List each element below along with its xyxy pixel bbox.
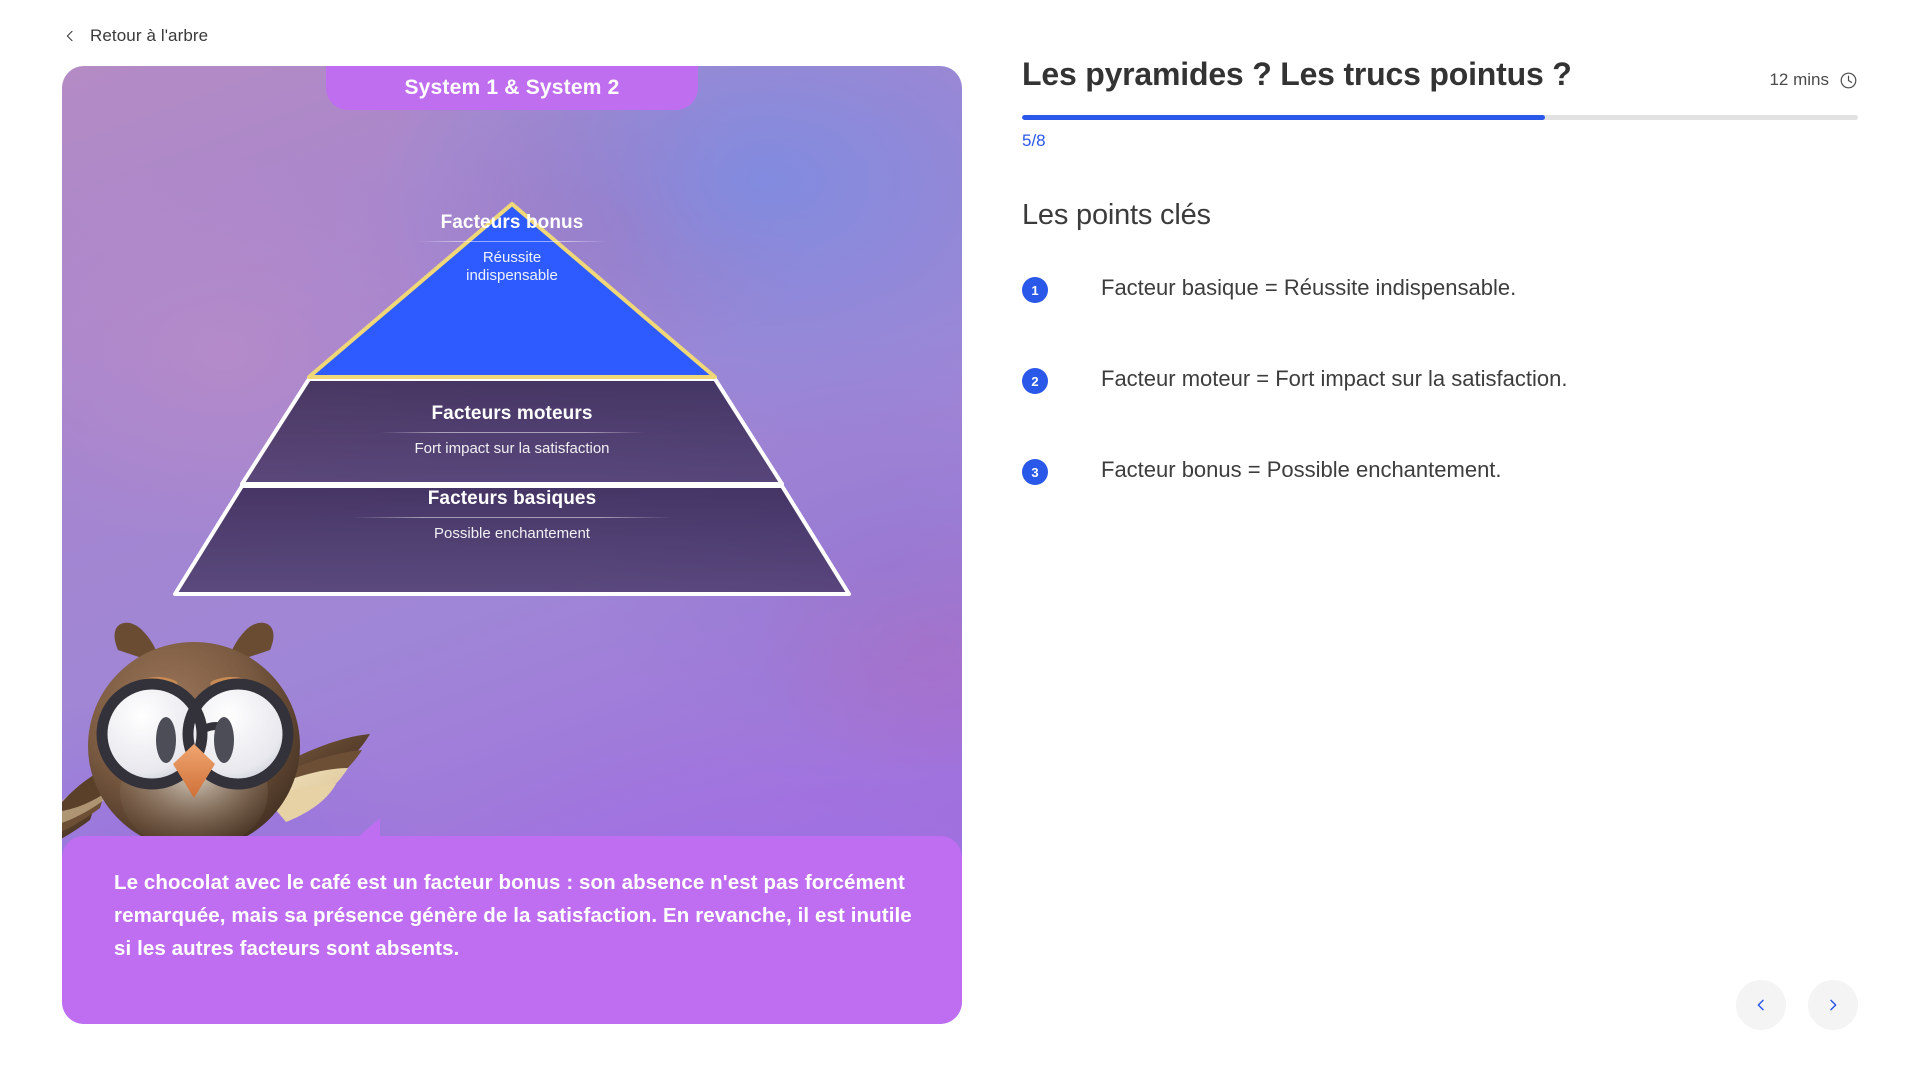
chevron-left-icon [62, 28, 78, 44]
owl-pupil-left [156, 717, 176, 763]
lesson-detail-panel: Les pyramides ? Les trucs pointus ? 12 m… [1022, 56, 1858, 547]
next-slide-button[interactable] [1808, 980, 1858, 1030]
keypoints-list: 1Facteur basique = Réussite indispensabl… [1022, 274, 1858, 485]
back-to-tree-button[interactable]: Retour à l'arbre [62, 22, 208, 50]
keypoint-number-badge: 2 [1022, 368, 1048, 394]
slide-topic-badge-label: System 1 & System 2 [404, 76, 619, 100]
slide-card: System 1 & System 2 [62, 66, 962, 1024]
lesson-duration: 12 mins [1769, 70, 1858, 90]
back-to-tree-label: Retour à l'arbre [90, 26, 208, 46]
keypoint-number-badge: 1 [1022, 277, 1048, 303]
chevron-right-icon [1825, 997, 1841, 1013]
keypoint-number-badge: 3 [1022, 459, 1048, 485]
keypoint-text: Facteur bonus = Possible enchantement. [1101, 456, 1502, 485]
pyramid-tier-moteurs [242, 379, 782, 484]
lesson-duration-label: 12 mins [1769, 70, 1829, 90]
pyramid-svg [62, 166, 962, 686]
chevron-left-icon [1753, 997, 1769, 1013]
keypoint-row: 1Facteur basique = Réussite indispensabl… [1022, 274, 1858, 303]
keypoint-text: Facteur basique = Réussite indispensable… [1101, 274, 1516, 303]
keypoint-text: Facteur moteur = Fort impact sur la sati… [1101, 365, 1567, 394]
previous-slide-button[interactable] [1736, 980, 1786, 1030]
lesson-slide-page: Retour à l'arbre System 1 & System 2 [0, 0, 1920, 1080]
keypoints-heading: Les points clés [1022, 199, 1858, 232]
pyramid-tier-basiques [175, 486, 849, 594]
keypoint-row: 3Facteur bonus = Possible enchantement. [1022, 456, 1858, 485]
lesson-header: Les pyramides ? Les trucs pointus ? 12 m… [1022, 56, 1858, 93]
mascot-speech-bubble: Le chocolat avec le café est un facteur … [62, 836, 962, 1024]
slide-navigation [1736, 980, 1858, 1030]
mascot-speech-text: Le chocolat avec le café est un facteur … [114, 866, 916, 966]
keypoint-row: 2Facteur moteur = Fort impact sur la sat… [1022, 365, 1858, 394]
lesson-progress-fill [1022, 115, 1545, 120]
pyramid-diagram: Facteurs bonus Réussite indispensable Fa… [62, 166, 962, 686]
pyramid-tier-bonus [309, 204, 715, 377]
clock-icon [1839, 71, 1858, 90]
slide-topic-badge: System 1 & System 2 [326, 66, 698, 110]
owl-pupil-right [214, 717, 234, 763]
lesson-progress-label: 5/8 [1022, 131, 1858, 151]
lesson-progress-bar [1022, 115, 1858, 120]
page-title: Les pyramides ? Les trucs pointus ? [1022, 56, 1572, 93]
